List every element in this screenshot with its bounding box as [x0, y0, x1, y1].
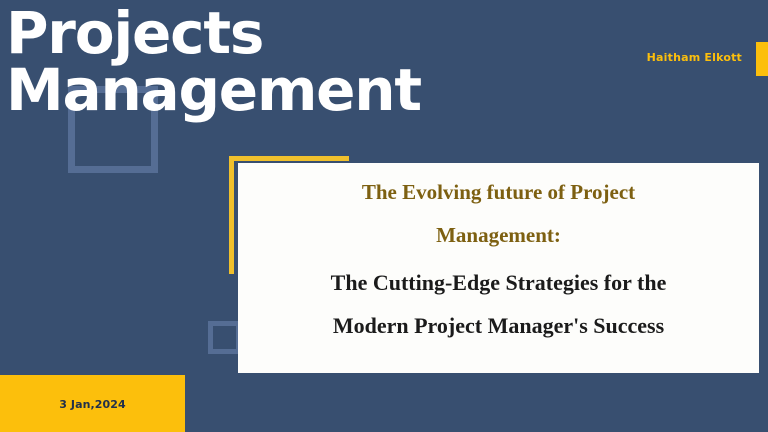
card-subhead-line-2: Modern Project Manager's Success: [333, 315, 664, 337]
date-badge-label: 3 Jan,2024: [59, 398, 126, 411]
author-name: Haitham Elkott: [647, 51, 742, 64]
page-title-line-2: Management: [6, 63, 606, 118]
page-title-line-1: Projects: [6, 6, 606, 61]
author-accent-bar: [756, 42, 768, 76]
date-badge: 3 Jan,2024: [0, 375, 185, 432]
page-title: Projects Management: [6, 6, 606, 118]
card-corner-bracket-horizontal: [229, 156, 349, 161]
card-headline-line-1: The Evolving future of Project: [362, 182, 635, 203]
decorative-square-small-icon: [208, 321, 241, 354]
presentation-slide: Projects Management Haitham Elkott The E…: [0, 0, 768, 432]
card-corner-bracket-vertical: [229, 156, 234, 274]
card-subhead-line-1: The Cutting-Edge Strategies for the: [331, 272, 667, 294]
card-headline-line-2: Management:: [436, 225, 561, 246]
content-card: The Evolving future of Project Managemen…: [238, 163, 759, 373]
